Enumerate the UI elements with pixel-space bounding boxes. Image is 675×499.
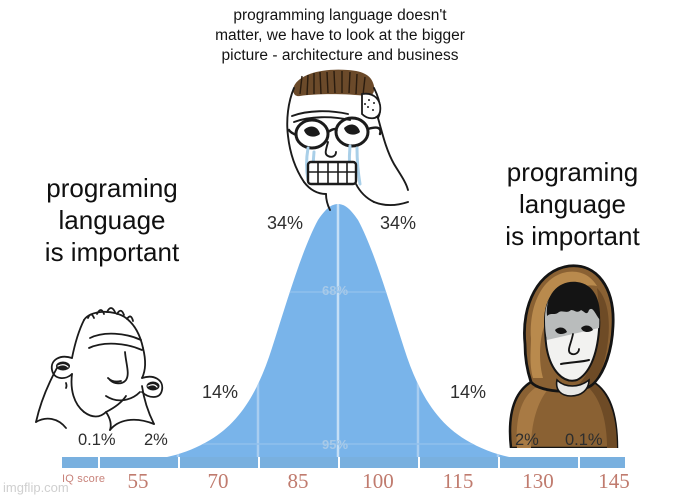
pct-34-right: 34% xyxy=(380,213,416,234)
curve-gridlines xyxy=(178,190,498,470)
imgflip-watermark: imgflip.com xyxy=(3,480,69,495)
pct-34-left: 34% xyxy=(267,213,303,234)
axis-tick-5 xyxy=(498,457,500,468)
pct-14-right: 14% xyxy=(450,382,486,403)
axis-label-70: 70 xyxy=(208,469,229,494)
pct-95-inner: 95% xyxy=(322,437,348,452)
left-caption: programing language is important xyxy=(6,172,218,269)
axis-label-55: 55 xyxy=(128,469,149,494)
axis-bar xyxy=(62,457,625,468)
brainlet-wojak-figure xyxy=(22,300,172,440)
pct-01-left: 0.1% xyxy=(78,431,116,450)
pct-2-right: 2% xyxy=(515,431,539,450)
meme-canvas: 34% 34% 14% 14% 0.1% 2% 2% 0.1% 68% 95% … xyxy=(0,0,675,499)
axis-tick-0 xyxy=(98,457,100,468)
axis-tick-3 xyxy=(338,457,340,468)
hooded-wojak-figure xyxy=(497,252,627,448)
top-caption: programming language doesn't matter, we … xyxy=(170,6,510,65)
pct-2-left: 2% xyxy=(144,431,168,450)
axis-tick-6 xyxy=(578,457,580,468)
axis-label-100: 100 xyxy=(362,469,394,494)
axis-tick-4 xyxy=(418,457,420,468)
pct-68-inner: 68% xyxy=(322,283,348,298)
pct-01-right: 0.1% xyxy=(565,431,603,450)
axis-label-85: 85 xyxy=(288,469,309,494)
pct-14-left: 14% xyxy=(202,382,238,403)
axis-label-145: 145 xyxy=(598,469,630,494)
crying-soyjak-figure xyxy=(256,66,412,212)
axis-label-130: 130 xyxy=(522,469,554,494)
axis-label-115: 115 xyxy=(443,469,474,494)
axis-tick-2 xyxy=(258,457,260,468)
right-caption: programing language is important xyxy=(470,156,675,253)
axis-tick-1 xyxy=(178,457,180,468)
